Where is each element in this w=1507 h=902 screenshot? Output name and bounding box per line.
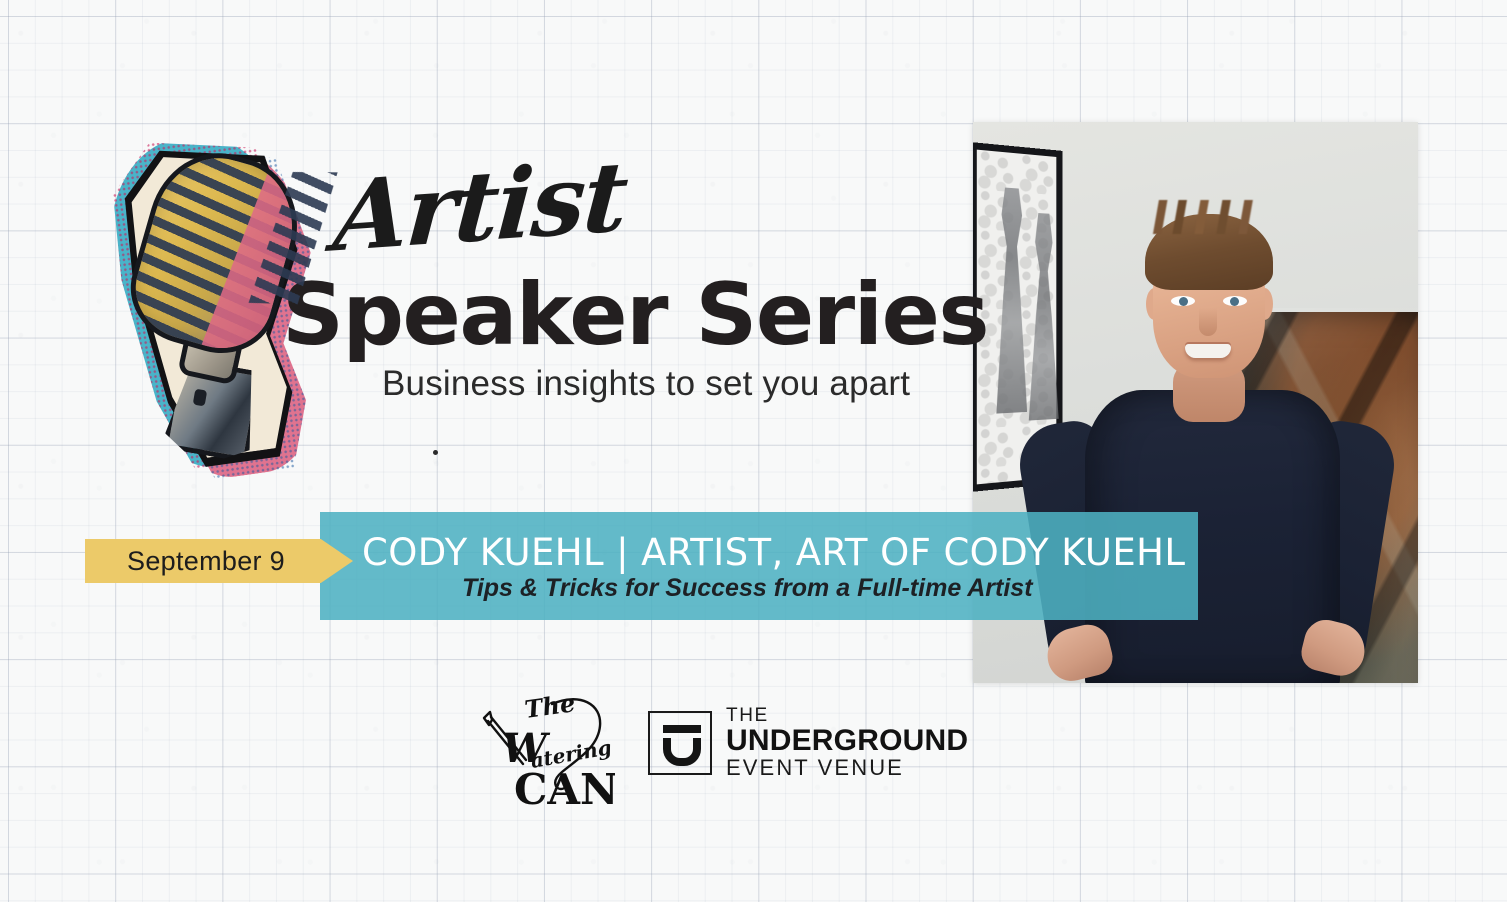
speaker-name-title: CODY KUEHL | ARTIST, ART OF CODY KUEHL bbox=[362, 531, 1185, 574]
person-nose bbox=[1199, 308, 1217, 336]
underground-logo: THE UNDERGROUND EVENT VENUE bbox=[648, 706, 968, 779]
person-hair bbox=[1145, 214, 1273, 290]
person-pupil-left bbox=[1179, 297, 1188, 306]
page-title: Speaker Series bbox=[282, 272, 988, 358]
stray-dot bbox=[433, 450, 438, 455]
underground-line-sub: EVENT VENUE bbox=[726, 757, 968, 779]
svg-text:The: The bbox=[523, 690, 577, 724]
underground-wordmark: THE UNDERGROUND EVENT VENUE bbox=[726, 706, 968, 779]
dress-sketch-2 bbox=[1024, 212, 1063, 421]
person-pupil-right bbox=[1230, 297, 1239, 306]
script-artist-word: Artist bbox=[330, 139, 630, 273]
talk-subtitle: Tips & Tricks for Success from a Full-ti… bbox=[462, 574, 1033, 603]
underground-line-the: THE bbox=[726, 706, 968, 725]
u-letter bbox=[663, 738, 701, 766]
date-label: September 9 bbox=[127, 546, 285, 577]
u-overbar bbox=[663, 725, 701, 733]
event-poster: Artist Speaker Series Business insights … bbox=[0, 0, 1507, 902]
underground-line-main: UNDERGROUND bbox=[726, 726, 968, 756]
watering-can-logo: The W atering CAN bbox=[480, 690, 615, 808]
watering-can-glyph: The W atering CAN bbox=[480, 690, 615, 808]
date-badge: September 9 bbox=[85, 539, 353, 583]
svg-text:CAN: CAN bbox=[514, 765, 615, 808]
underground-u-mark bbox=[648, 711, 712, 775]
person-mouth bbox=[1185, 344, 1231, 358]
dress-sketch-1 bbox=[990, 186, 1033, 413]
logo-row: The W atering CAN THE UNDERGROUND EVENT … bbox=[480, 690, 920, 808]
tagline: Business insights to set you apart bbox=[382, 364, 910, 404]
microphone-icon bbox=[112, 132, 322, 472]
